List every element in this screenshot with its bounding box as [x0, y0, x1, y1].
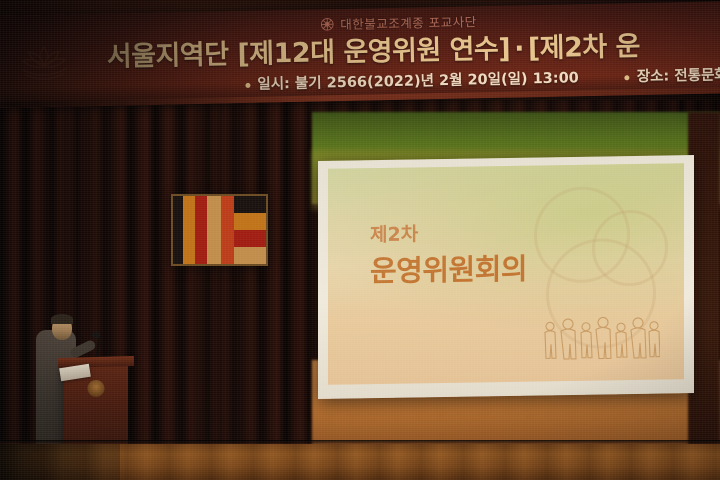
slide-subtitle: 제2차 — [370, 219, 418, 247]
projection-screen: 제2차 운영위원회의 — [328, 163, 684, 385]
stage-floor — [0, 444, 720, 480]
podium-emblem-icon — [88, 380, 105, 397]
projection-screen-frame: 제2차 운영위원회의 — [318, 155, 694, 399]
event-banner: 대한불교조계종 포교사단 서울지역단 [제12대 운영위원 연수]·[제2차 운… — [0, 1, 720, 108]
lotus-icon — [15, 40, 74, 87]
flag-stripe — [207, 196, 221, 264]
slide-title: 운영위원회의 — [370, 246, 527, 290]
flag-stripe — [195, 196, 207, 264]
seven-people-icon — [542, 316, 660, 364]
banner-date: 일시: 불기 2566(2022)년 2월 20일(일) 13:00 — [245, 66, 579, 94]
flag-stripe — [173, 196, 183, 264]
flag-band — [234, 247, 266, 264]
banner-title-continued: [제2차 운 — [528, 31, 641, 64]
banner-venue-label: 장소: — [637, 68, 670, 85]
flag-stripe — [183, 196, 195, 264]
floor-shadow — [0, 444, 120, 480]
banner-venue: 장소: 전통문화예술공연 — [625, 62, 720, 86]
microphone-icon — [92, 332, 100, 338]
speaker-hair — [51, 314, 73, 324]
banner-title-separator: · — [510, 33, 528, 64]
flag-band — [234, 230, 266, 247]
bullet-icon — [245, 82, 250, 87]
flag-band — [234, 196, 266, 213]
dharma-wheel-icon — [320, 17, 334, 31]
banner-date-value: 불기 2566(2022)년 2월 20일(일) 13:00 — [295, 70, 579, 92]
banner-venue-value: 전통문화예술공연 — [674, 66, 720, 84]
flag-band — [234, 213, 266, 230]
flag-stripe — [221, 196, 234, 264]
stage-photograph: 제2차 운영위원회의 — [0, 0, 720, 480]
buddhist-flag — [171, 194, 268, 266]
flag-bands — [234, 196, 266, 264]
banner-title-main: 서울지역단 [제12대 운영위원 연수] — [107, 34, 511, 73]
people-graphic — [542, 316, 660, 364]
banner-date-label: 일시: — [257, 76, 290, 93]
bullet-icon — [625, 75, 630, 80]
